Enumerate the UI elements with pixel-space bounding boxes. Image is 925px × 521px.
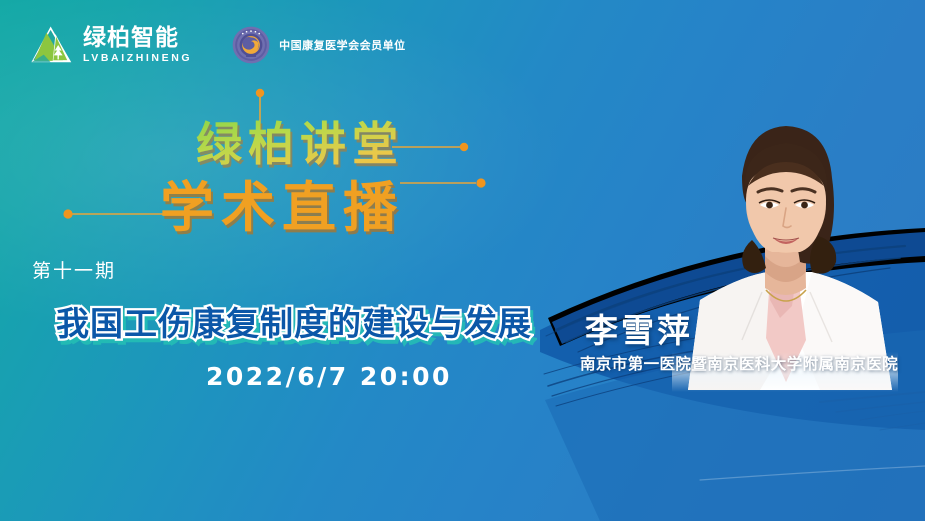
association-membership: 中国康复医学会会员单位	[232, 26, 406, 64]
brand-name-en: LVBAIZHINENG	[83, 53, 192, 64]
poster-header: 绿柏智能 LVBAIZHINENG 中国康复医学会会员单位	[30, 24, 406, 66]
program-topic: 我国工伤康复制度的建设与发展	[56, 297, 532, 345]
decorative-lines-and-dots	[0, 0, 925, 521]
background-glow	[0, 0, 925, 521]
livestream-poster: 绿柏智能 LVBAIZHINENG 中国康复医学会会员单位	[0, 0, 925, 521]
brand-wordmark: 绿柏智能 LVBAIZHINENG	[83, 27, 192, 64]
speaker-name: 李雪萍	[585, 304, 693, 352]
speaker-organization: 南京市第一医院暨南京医科大学附属南京医院	[580, 352, 898, 374]
live-title: 学术直播	[160, 163, 404, 242]
brand-logo: 绿柏智能 LVBAIZHINENG	[30, 24, 192, 66]
mountain-tree-logo-icon	[30, 24, 74, 66]
program-datetime: 2022/6/7 20:00	[206, 362, 452, 391]
episode-label: 第十一期	[32, 256, 116, 283]
brush-stroke-decoration	[0, 0, 925, 521]
association-membership-label: 中国康复医学会会员单位	[279, 37, 406, 53]
association-seal-icon	[232, 26, 270, 64]
brand-name-cn: 绿柏智能	[83, 27, 192, 50]
